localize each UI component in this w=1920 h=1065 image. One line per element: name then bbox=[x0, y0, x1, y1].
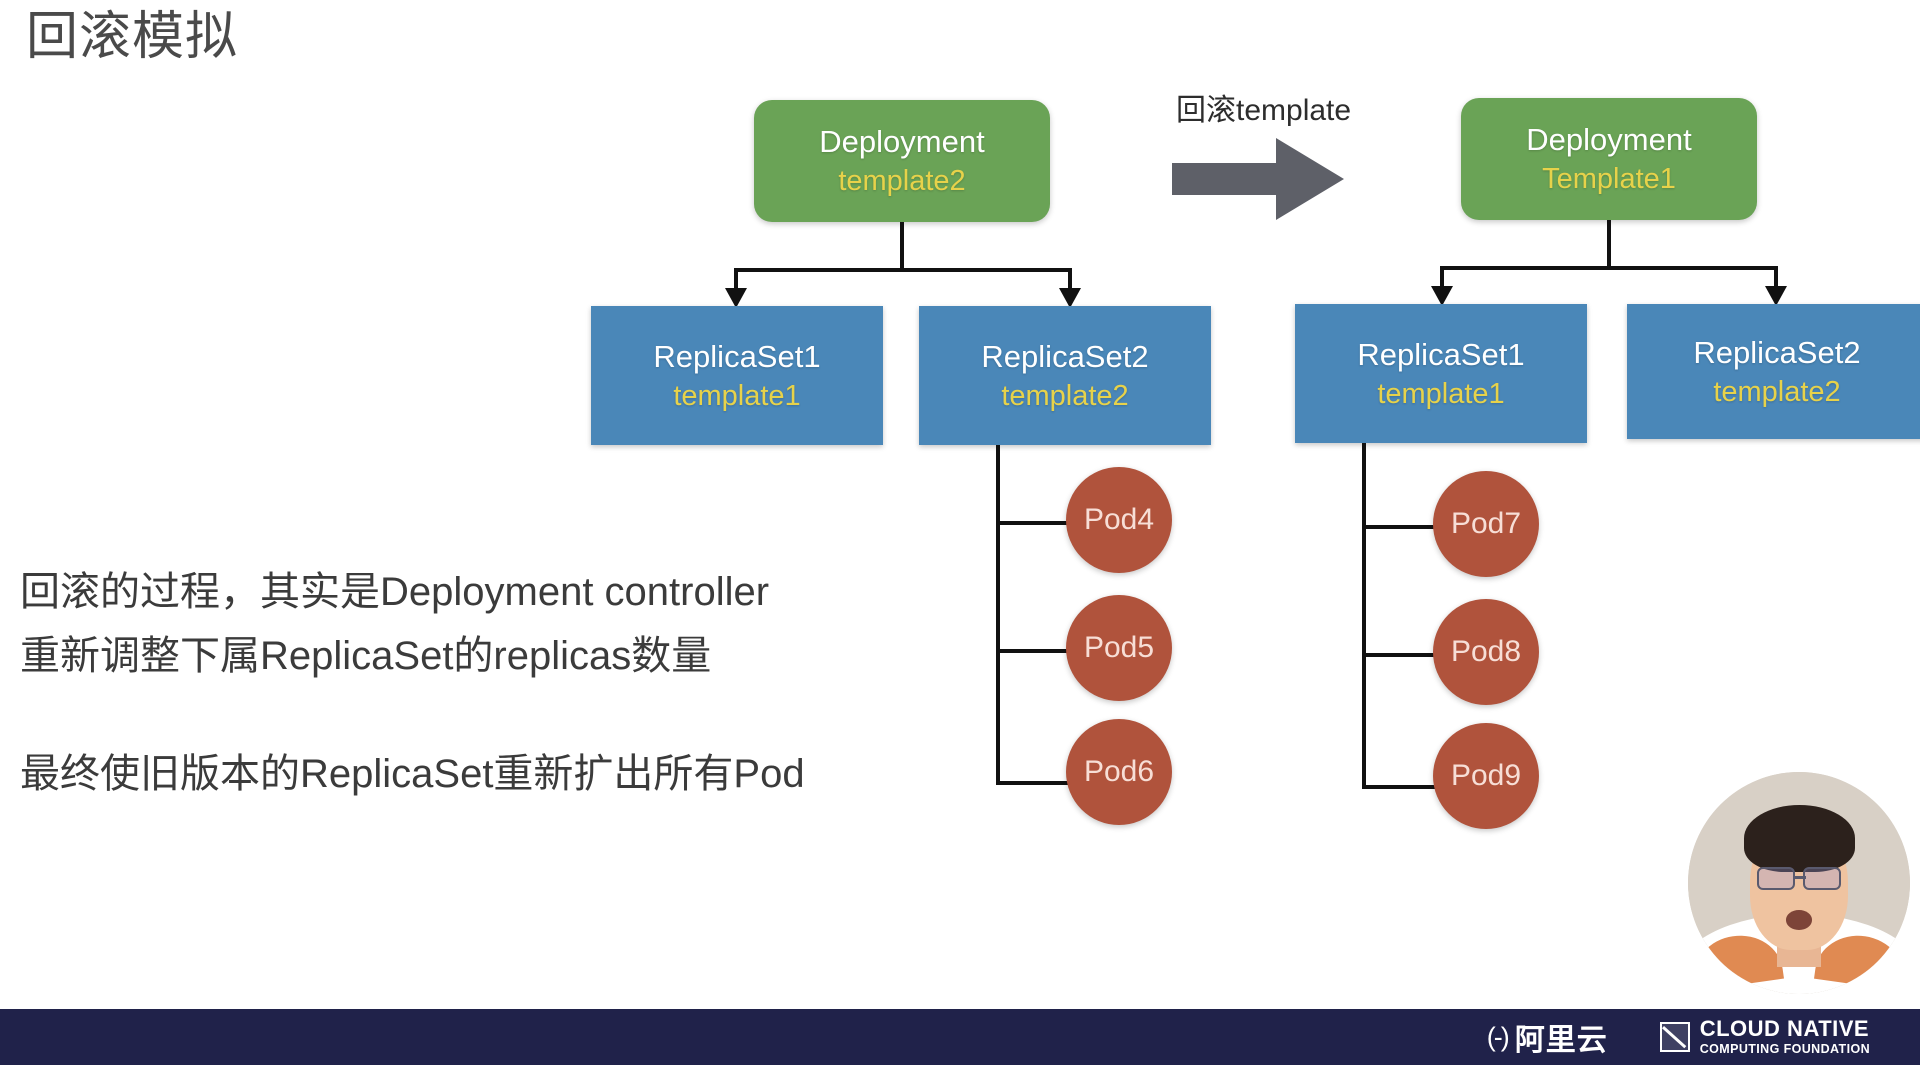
connector-bar-left bbox=[734, 268, 1072, 272]
pod-branch-right-1 bbox=[1362, 525, 1440, 529]
replicaset-name: ReplicaSet2 bbox=[981, 337, 1148, 377]
pod-circle: Pod4 bbox=[1066, 467, 1172, 573]
connector-stem-right bbox=[1607, 220, 1611, 268]
cncf-line-2: COMPUTING FOUNDATION bbox=[1700, 1043, 1870, 1056]
pod-circle: Pod9 bbox=[1433, 723, 1539, 829]
replicaset-template: template1 bbox=[673, 377, 800, 415]
pod-trunk-right bbox=[1362, 443, 1366, 789]
deployment-name: Deployment bbox=[1526, 120, 1691, 160]
arrow-head-left-1 bbox=[725, 288, 747, 308]
webcam-glasses-left bbox=[1757, 867, 1795, 889]
right-arrow-icon bbox=[1172, 138, 1344, 220]
cncf-logo: CLOUD NATIVE COMPUTING FOUNDATION bbox=[1660, 1018, 1870, 1056]
footer-bar: (-) 阿里云 CLOUD NATIVE COMPUTING FOUNDATIO… bbox=[0, 1009, 1920, 1065]
body-line-1: 回滚的过程，其实是Deployment controller bbox=[20, 560, 900, 624]
body-line-2: 重新调整下属ReplicaSet的replicas数量 bbox=[20, 624, 900, 688]
replicaset-name: ReplicaSet1 bbox=[1357, 335, 1524, 375]
body-spacer bbox=[20, 688, 900, 742]
pod-circle: Pod6 bbox=[1066, 719, 1172, 825]
body-line-3: 最终使旧版本的ReplicaSet重新扩出所有Pod bbox=[20, 742, 900, 806]
transition-label: 回滚template bbox=[1176, 85, 1351, 129]
cncf-mark-icon bbox=[1660, 1022, 1690, 1052]
pod-branch-left-1 bbox=[996, 521, 1074, 525]
replicaset-template: template2 bbox=[1001, 377, 1128, 415]
pod-branch-left-3 bbox=[996, 781, 1074, 785]
deployment-template: template2 bbox=[838, 162, 965, 200]
webcam-glasses-bridge bbox=[1795, 876, 1806, 879]
slide-canvas: 回滚模拟 Deployment template2 ReplicaSet1 te… bbox=[0, 0, 1920, 1065]
replicaset-box-left-2: ReplicaSet2 template2 bbox=[919, 306, 1211, 445]
deployment-name: Deployment bbox=[819, 122, 984, 162]
pod-circle: Pod8 bbox=[1433, 599, 1539, 705]
replicaset-box-right-2: ReplicaSet2 template2 bbox=[1627, 304, 1920, 439]
presenter-video-overlay bbox=[1688, 772, 1910, 994]
page-title: 回滚模拟 bbox=[26, 8, 238, 68]
webcam-glasses-right bbox=[1803, 867, 1841, 889]
replicaset-box-right-1: ReplicaSet1 template1 bbox=[1295, 304, 1587, 443]
cncf-line-1: CLOUD NATIVE bbox=[1700, 1018, 1870, 1040]
pod-branch-right-2 bbox=[1362, 653, 1440, 657]
deployment-box-left: Deployment template2 bbox=[754, 100, 1050, 222]
replicaset-box-left-1: ReplicaSet1 template1 bbox=[591, 306, 883, 445]
pod-branch-right-3 bbox=[1362, 785, 1440, 789]
cncf-wordmark: CLOUD NATIVE COMPUTING FOUNDATION bbox=[1700, 1018, 1870, 1056]
replicaset-template: template1 bbox=[1377, 375, 1504, 413]
arrow-head-left-2 bbox=[1059, 288, 1081, 308]
alibaba-cloud-logo: (-) 阿里云 bbox=[1487, 1015, 1608, 1059]
alibaba-cloud-text: 阿里云 bbox=[1515, 1015, 1608, 1059]
pod-branch-left-2 bbox=[996, 649, 1074, 653]
connector-stem-left bbox=[900, 222, 904, 270]
arrow-head-right-1 bbox=[1431, 286, 1453, 306]
pod-circle: Pod5 bbox=[1066, 595, 1172, 701]
pod-circle: Pod7 bbox=[1433, 471, 1539, 577]
deployment-template: Template1 bbox=[1542, 160, 1676, 198]
arrow-head-right-2 bbox=[1765, 286, 1787, 306]
webcam-hair bbox=[1744, 805, 1855, 872]
pod-trunk-left bbox=[996, 445, 1000, 785]
replicaset-name: ReplicaSet1 bbox=[653, 337, 820, 377]
webcam-mouth bbox=[1786, 910, 1813, 930]
connector-bar-right bbox=[1440, 266, 1778, 270]
body-text-block: 回滚的过程，其实是Deployment controller 重新调整下属Rep… bbox=[20, 560, 900, 806]
replicaset-name: ReplicaSet2 bbox=[1693, 333, 1860, 373]
alibaba-cloud-mark-icon: (-) bbox=[1487, 1022, 1508, 1053]
replicaset-template: template2 bbox=[1713, 373, 1840, 411]
deployment-box-right: Deployment Template1 bbox=[1461, 98, 1757, 220]
footer-logos: (-) 阿里云 CLOUD NATIVE COMPUTING FOUNDATIO… bbox=[1487, 1015, 1870, 1059]
